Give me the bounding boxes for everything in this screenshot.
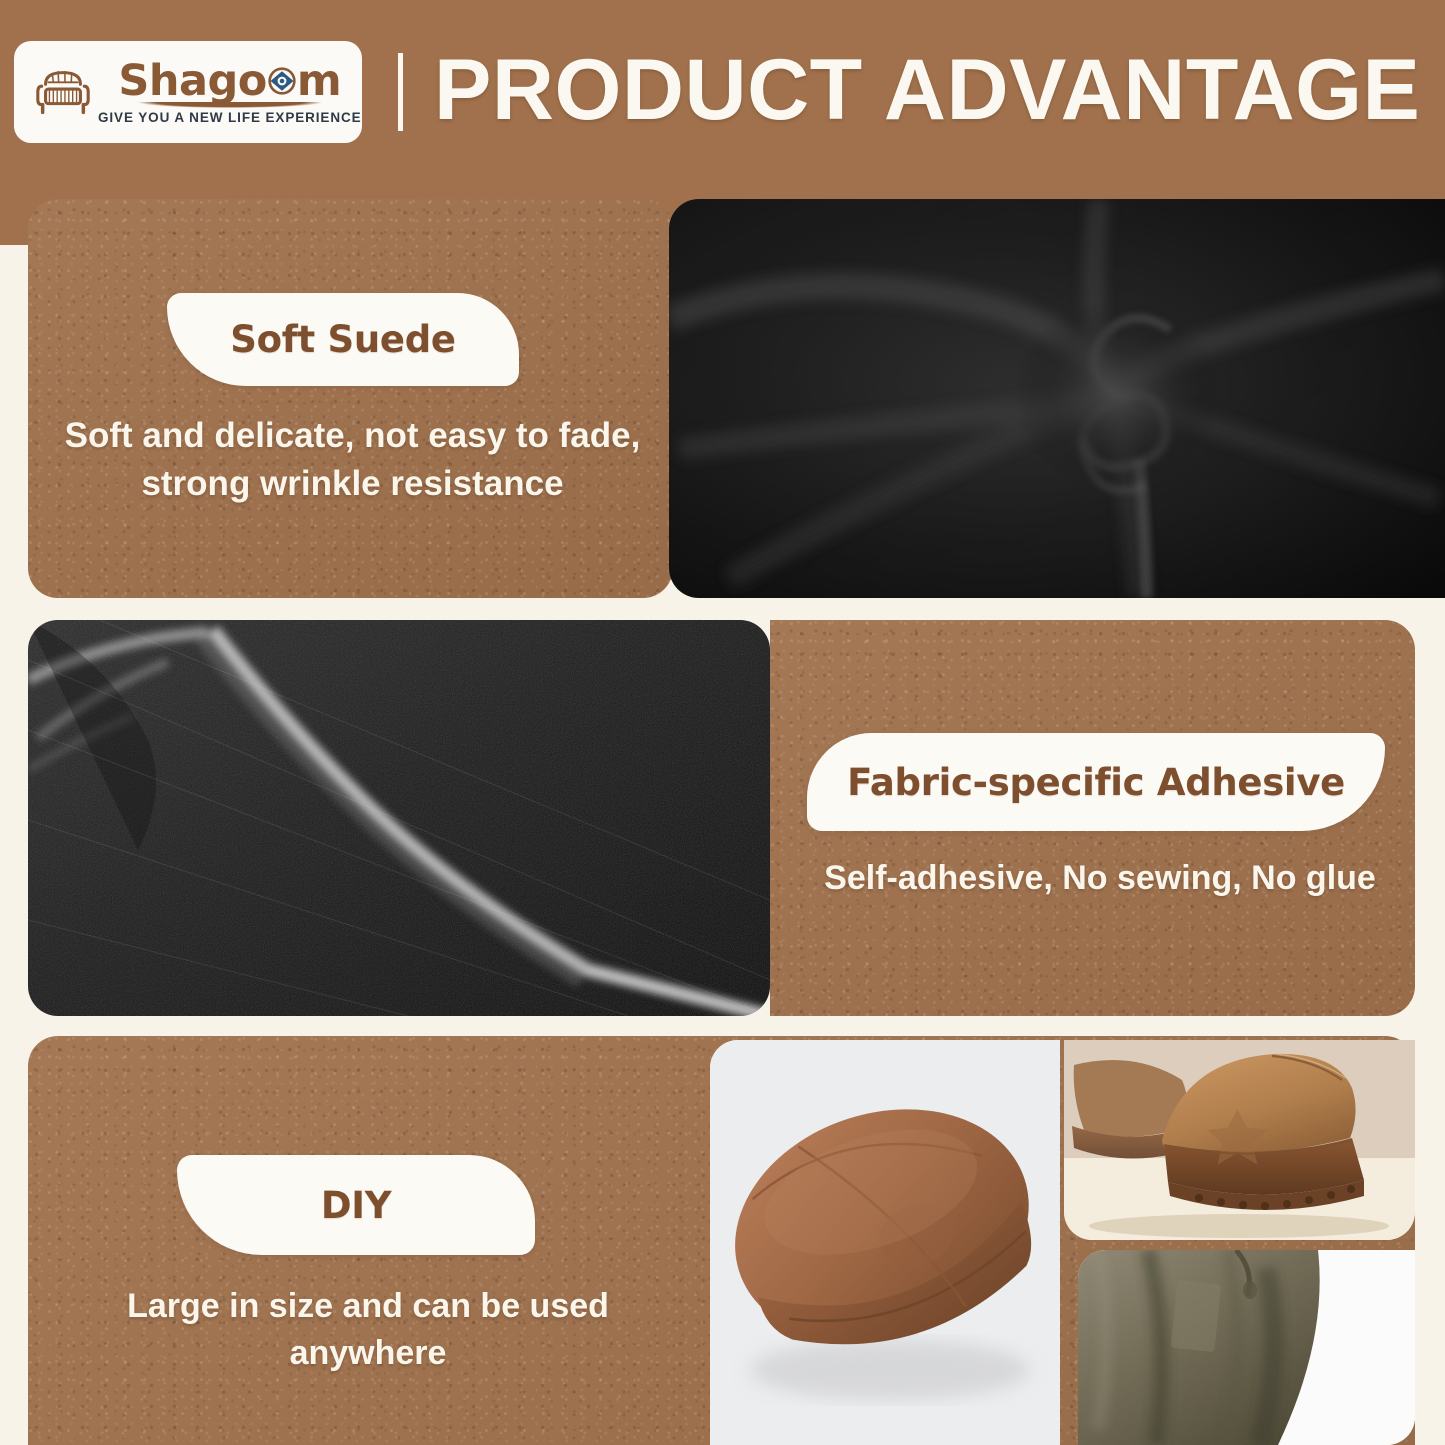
eye-o-icon <box>267 66 297 96</box>
brand-text-block: Shago m GIVE YOU A NEW LIFE EXPERIENCE <box>98 59 362 126</box>
header-divider <box>398 53 403 131</box>
brand-name-part-2: m <box>297 61 341 102</box>
feature-label-diy: DIY <box>177 1155 535 1255</box>
feature-label-text: DIY <box>321 1184 391 1227</box>
feature-description-diy: Large in size and can be used anywhere <box>48 1283 688 1377</box>
adhesive-seam-closeup-photo <box>28 620 770 1016</box>
logo-underline-swoosh <box>106 102 354 109</box>
brand-name-part-1: Shago <box>118 61 266 102</box>
feature-label-soft-suede: Soft Suede <box>167 293 519 386</box>
tan-suede-platform-boots-photo <box>1064 1040 1415 1240</box>
armchair-icon <box>32 61 94 123</box>
feature-label-text: Fabric-specific Adhesive <box>847 761 1345 804</box>
feature-card-soft-suede <box>28 199 673 598</box>
feature-label-text: Soft Suede <box>230 318 455 361</box>
page-title: PRODUCT ADVANTAGE <box>434 38 1434 143</box>
brown-suede-flat-cap-photo <box>710 1040 1060 1445</box>
feature-label-fabric-adhesive: Fabric-specific Adhesive <box>807 733 1385 831</box>
brand-name: Shago m <box>118 61 341 102</box>
brand-tagline: GIVE YOU A NEW LIFE EXPERIENCE <box>98 110 362 125</box>
velvet-fabric-swirl-photo <box>669 199 1445 598</box>
brand-logo: Shago m GIVE YOU A NEW LIFE EXPERIENCE <box>14 41 362 143</box>
feature-description-fabric-adhesive: Self-adhesive, No sewing, No glue <box>800 855 1400 902</box>
product-advantage-infographic: Shago m GIVE YOU A NEW LIFE EXPERIENCE P… <box>0 0 1445 1445</box>
olive-suede-jacket-photo <box>1078 1250 1415 1445</box>
feature-description-soft-suede: Soft and delicate, not easy to fade, str… <box>60 412 645 509</box>
